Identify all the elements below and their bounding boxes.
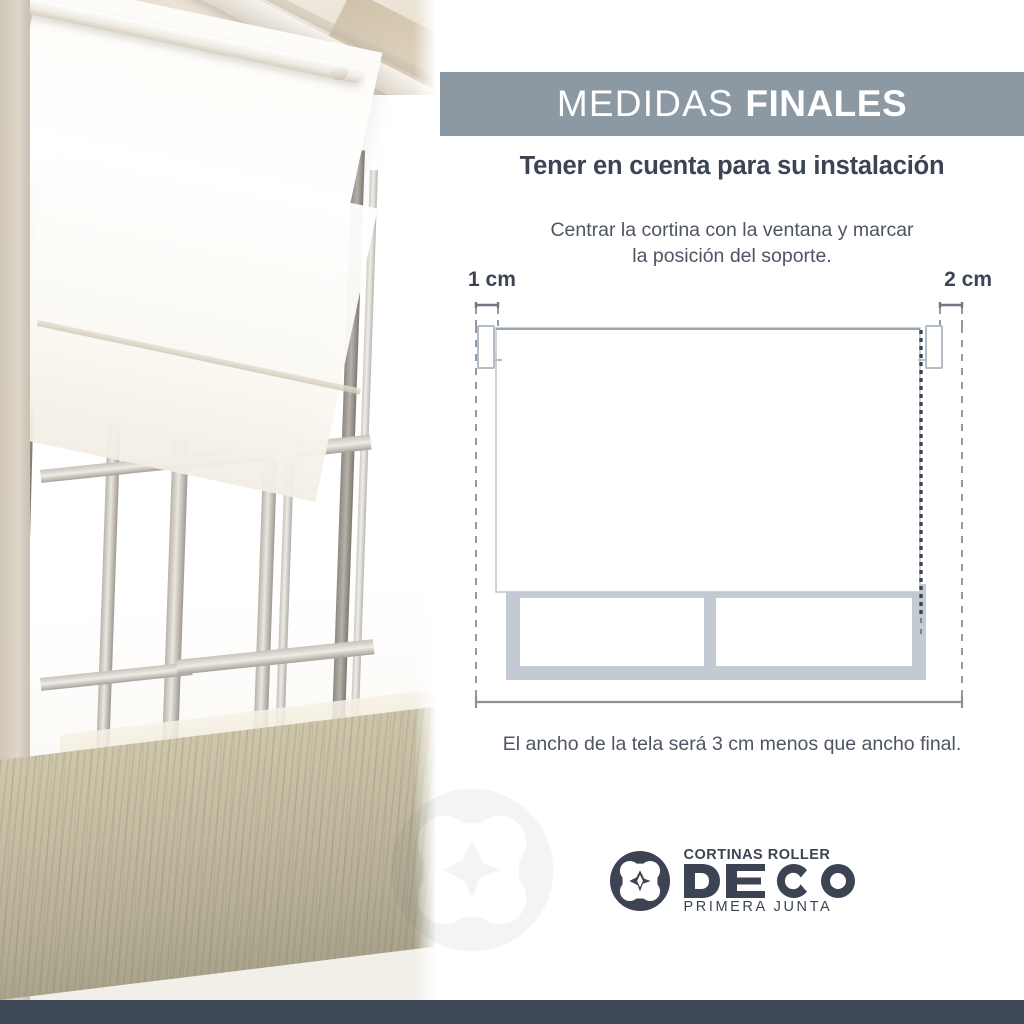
guide-dashed-lines (476, 308, 962, 328)
logo-main-word (684, 864, 856, 898)
poster-root: MEDIDAS FINALES Tener en cuenta para su … (0, 0, 1024, 1024)
brand-logo: CORTINAS ROLLER (440, 838, 1024, 924)
page-title: MEDIDAS FINALES (557, 83, 907, 125)
marker-right-tick (940, 302, 962, 308)
page-title-light: MEDIDAS (557, 83, 734, 124)
caption: El ancho de la tela será 3 cm menos que … (440, 733, 1024, 756)
page-title-bold: FINALES (745, 83, 907, 124)
dimension-label-right: 2 cm (944, 268, 992, 292)
photo-roller-end-cap (330, 64, 348, 80)
dimension-label-left: 1 cm (468, 268, 516, 292)
logo-bottom-line: PRIMERA JUNTA (684, 900, 856, 915)
logo-top-line: CORTINAS ROLLER (684, 848, 856, 863)
content-panel: MEDIDAS FINALES Tener en cuenta para su … (440, 0, 1024, 1024)
header-bar: MEDIDAS FINALES (440, 72, 1024, 136)
lead-text: Centrar la cortina con la ventana y marc… (440, 218, 1024, 270)
lead-line-2: la posición del soporte. (440, 244, 1024, 270)
marker-left-tick (476, 302, 498, 308)
deco-wordmark-icon (684, 864, 856, 898)
technical-drawing (440, 296, 1024, 726)
lead-line-1: Centrar la cortina con la ventana y marc… (440, 218, 1024, 244)
blind-fabric (496, 328, 920, 592)
width-dimension-line (476, 696, 962, 708)
logo-wordmark: CORTINAS ROLLER (684, 848, 856, 914)
window-frame (506, 584, 926, 680)
deco-clover-icon (609, 850, 671, 912)
installation-photo (0, 0, 440, 1000)
bottom-bar (0, 1000, 1024, 1024)
subtitle: Tener en cuenta para su instalación (440, 152, 1024, 181)
photo-right-fade (414, 0, 440, 1000)
